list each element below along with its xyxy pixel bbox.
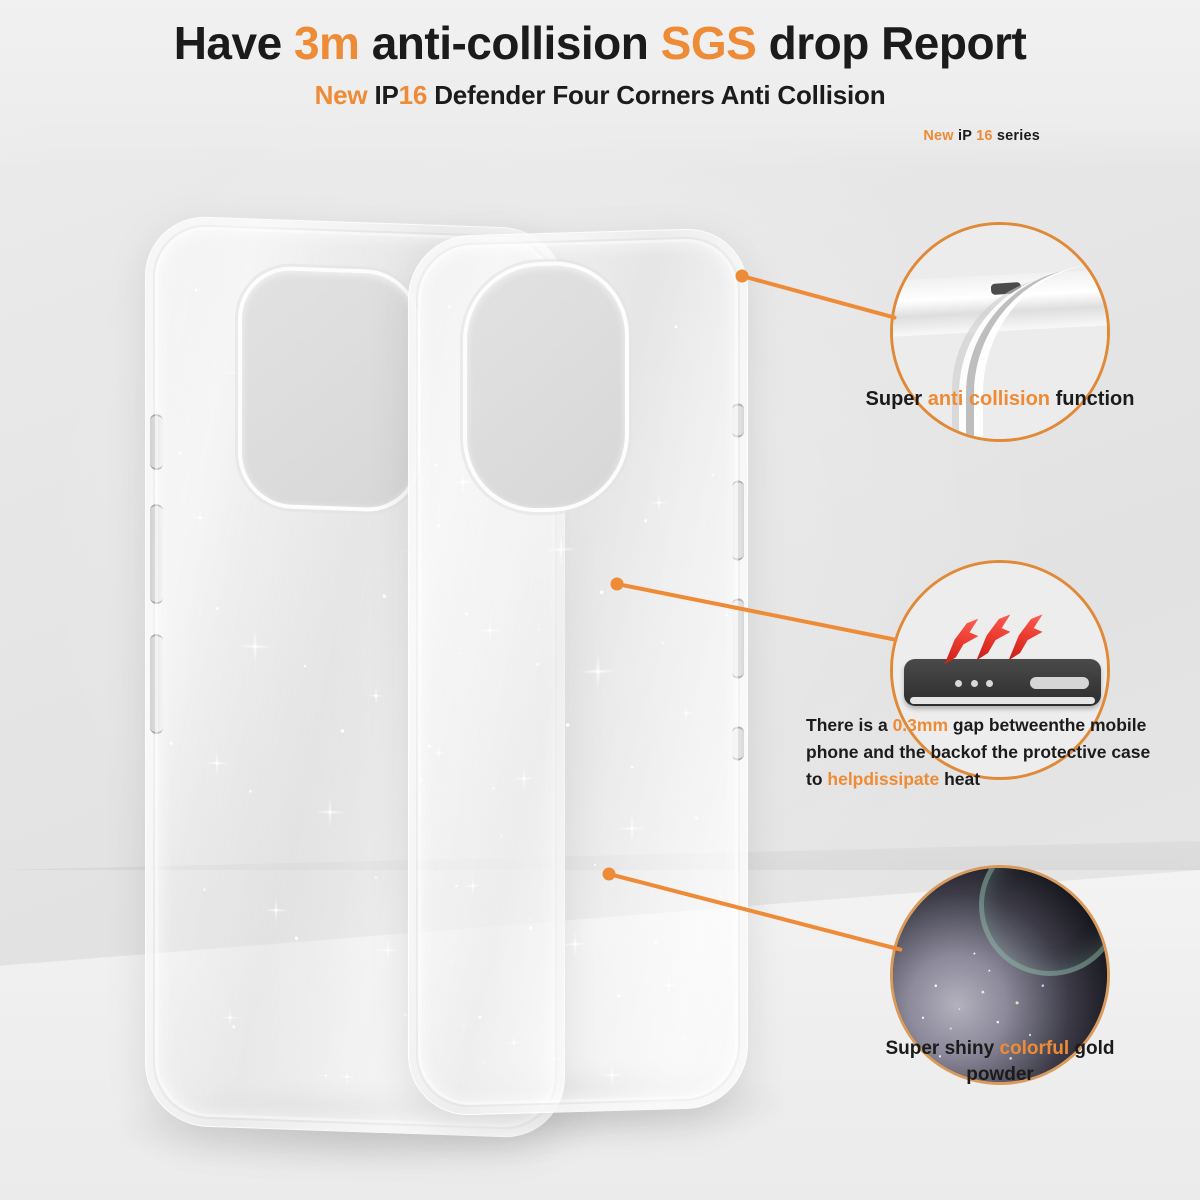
label-gp-line-2: powder [800,1062,1200,1088]
series-tag-seg-1: iP [958,128,976,144]
phone-side-view-bar [904,659,1101,706]
headline-seg-3: SGS [661,17,757,69]
button-cutout-b-front [732,480,744,560]
heat-arrow-icon-2 [976,614,1010,660]
label-heat-seg-4: to [806,769,827,789]
connector-dot-gold-powder [603,868,616,881]
label-heat-seg-0: There is a [806,715,893,735]
connector-dot-heat-gap [611,578,624,591]
subhead-seg-2: 16 [399,80,428,110]
bar-dot-3 [986,680,993,687]
label-ac-seg-1: anti collision [928,388,1050,410]
button-cutout-volume-dn-rear [150,634,163,734]
camera-cutout-rear [238,265,420,513]
label-ac-seg-0: Super [866,388,928,410]
bar-dot-1 [955,680,962,687]
button-cutout-d-front [732,726,744,760]
label-heat-seg-6: heat [939,769,980,789]
label-gp-seg-3: powder [966,1064,1034,1085]
heat-arrow-icon-3 [1009,614,1043,660]
page-subtitle: New IP16 Defender Four Corners Anti Coll… [0,80,1200,111]
label-ac-seg-2: function [1050,388,1134,410]
headline-seg-4: drop Report [756,17,1026,69]
callout-label-gold-powder: Super shiny colorful gold powder [800,1036,1200,1087]
bar-dot-2 [971,680,978,687]
callout-label-heat-gap: There is a 0.3mm gap betweenthe mobile p… [806,712,1200,793]
connector-dot-anti-collision [736,270,749,283]
corner-notch-detail [991,282,1022,295]
button-cutout-a-front [732,403,744,437]
label-gp-line-1: Super shiny colorful gold [800,1036,1200,1062]
page-title: Have 3m anti-collision SGS drop Report [0,18,1200,70]
camera-cutout-front [463,260,629,515]
headline-seg-2: anti-collision [359,17,660,69]
label-heat-line-1: There is a 0.3mm gap betweenthe mobile [806,712,1200,739]
label-heat-seg-5: helpdissipate [827,769,939,789]
header-band: Have 3m anti-collision SGS drop Report N… [0,0,1200,170]
subhead-seg-0: New [315,80,375,110]
label-gp-seg-2: gold [1069,1038,1114,1059]
headline-seg-1: 3m [294,17,359,69]
bar-pill [1030,677,1089,689]
headline-seg-0: Have [174,17,294,69]
callout-label-anti-collision: Super anti collision function [770,388,1200,411]
label-heat-seg-1: 0.3mm [893,715,948,735]
label-gp-seg-1: colorful [999,1038,1069,1059]
label-heat-line-2: phone and the backof the protective case [806,739,1200,766]
label-heat-seg-3: phone and the backof the protective case [806,742,1150,762]
series-tag-seg-2: 16 [976,128,993,144]
series-tag: New iP 16 series [923,128,1040,144]
button-cutout-volume-up-rear [150,504,163,604]
product-marketing-image: Have 3m anti-collision SGS drop Report N… [0,0,1200,1200]
subhead-seg-3: Defender Four Corners Anti Collision [427,80,885,110]
label-heat-seg-2: gap betweenthe mobile [948,715,1146,735]
heat-arrow-icon-1 [944,619,978,665]
label-gp-seg-0: Super shiny [885,1038,999,1059]
subhead-seg-1: IP [374,80,398,110]
label-heat-line-3: to helpdissipate heat [806,766,1200,793]
series-tag-seg-0: New [923,128,958,144]
phone-case-front [408,227,748,1116]
series-tag-seg-3: series [993,128,1040,144]
button-cutout-mute-rear [150,414,163,470]
